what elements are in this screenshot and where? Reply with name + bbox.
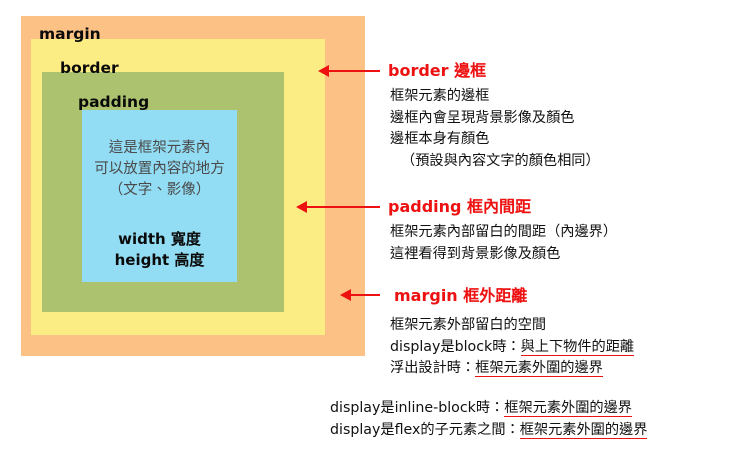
padding-note-heading: padding 框內間距 <box>388 193 531 217</box>
margin-note-line-flex: display是flex的子元素之間：框架元素外圍的邊界 <box>330 420 647 442</box>
margin-note-body: 框架元素外部留白的空間 display是block時：與上下物件的距離 浮出設計… <box>390 315 634 380</box>
padding-note-line-2: 這裡看得到背景影像及顏色 <box>390 244 617 266</box>
margin-flex-prefix: display是flex的子元素之間： <box>330 422 520 438</box>
notes-column: border 邊框 框架元素的邊框 邊框內會呈現背景影像及顏色 邊框本身有顏色 … <box>388 0 750 461</box>
margin-block-prefix: display是block時： <box>390 339 521 355</box>
content-description-line-3: （文字、影像） <box>82 180 237 201</box>
content-description-line-1: 這是框架元素內 <box>82 138 237 159</box>
margin-flex-underlined: 框架元素外圍的邊界 <box>520 422 648 439</box>
margin-note-line-block: display是block時：與上下物件的距離 <box>390 337 634 359</box>
content-dimensions: width 寬度 height 高度 <box>82 229 237 271</box>
margin-inline-block-prefix: display是inline-block時： <box>330 400 504 416</box>
margin-block-underlined: 與上下物件的距離 <box>521 339 635 356</box>
padding-box-label: padding <box>78 93 149 111</box>
margin-note-line-float: 浮出設計時：框架元素外圍的邊界 <box>390 358 634 380</box>
margin-float-prefix: 浮出設計時： <box>390 360 475 376</box>
padding-note-line-1: 框架元素內部留白的間距（內邊界） <box>390 222 617 244</box>
content-description-line-2: 可以放置內容的地方 <box>82 159 237 180</box>
content-description: 這是框架元素內 可以放置內容的地方 （文字、影像） <box>82 138 237 201</box>
margin-note-line-inline-block: display是inline-block時：框架元素外圍的邊界 <box>330 398 647 420</box>
border-note-heading: border 邊框 <box>388 57 486 81</box>
border-note-line-1: 框架元素的邊框 <box>390 86 600 108</box>
border-note-line-3: 邊框本身有顏色 <box>390 129 600 151</box>
margin-inline-block-underlined: 框架元素外圍的邊界 <box>504 400 632 417</box>
margin-note-heading: margin 框外距離 <box>394 282 527 306</box>
border-note-line-2: 邊框內會呈現背景影像及顏色 <box>390 108 600 130</box>
margin-note-extra: display是inline-block時：框架元素外圍的邊界 display是… <box>330 398 647 441</box>
padding-note-body: 框架元素內部留白的間距（內邊界） 這裡看得到背景影像及顏色 <box>390 222 617 265</box>
margin-float-underlined: 框架元素外圍的邊界 <box>475 360 603 377</box>
border-note-body: 框架元素的邊框 邊框內會呈現背景影像及顏色 邊框本身有顏色 （預設與內容文字的顏… <box>390 86 600 172</box>
border-note-line-4: （預設與內容文字的顏色相同） <box>390 151 600 173</box>
box-model-diagram: margin border padding 這是框架元素內 可以放置內容的地方 … <box>0 0 750 461</box>
margin-note-line-1: 框架元素外部留白的空間 <box>390 315 634 337</box>
content-width-label: width 寬度 <box>82 229 237 250</box>
border-box-label: border <box>60 59 119 77</box>
margin-box-label: margin <box>39 25 101 43</box>
content-height-label: height 高度 <box>82 250 237 271</box>
